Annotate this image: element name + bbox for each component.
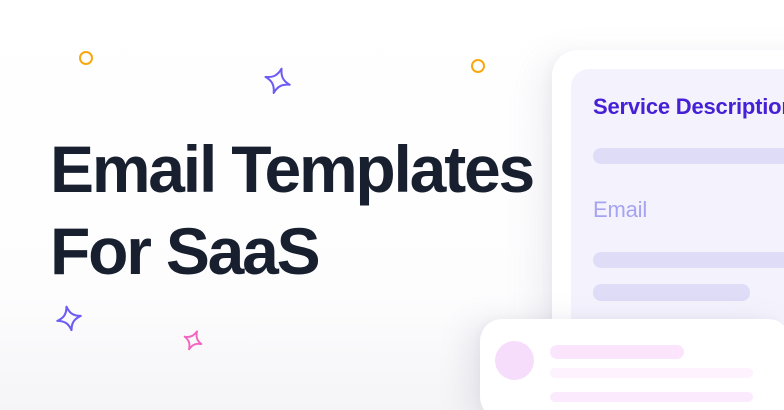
hero-banner: Email Templates For SaaS Service Descrip… xyxy=(0,0,784,410)
sparkle-pink-icon xyxy=(180,328,206,354)
service-description-heading: Service Description xyxy=(593,94,784,120)
email-field-label: Email xyxy=(593,197,647,223)
service-description-value-placeholder xyxy=(593,148,784,164)
page-title: Email Templates For SaaS xyxy=(50,128,533,292)
ring-top-left-icon xyxy=(79,51,93,65)
contact-line-one-placeholder xyxy=(550,368,753,378)
ring-top-right-icon xyxy=(471,59,485,73)
avatar xyxy=(495,341,534,380)
contact-line-two-placeholder xyxy=(550,392,753,402)
email-secondary-placeholder xyxy=(593,284,750,301)
sparkle-top-icon xyxy=(259,65,293,99)
email-value-placeholder xyxy=(593,252,784,268)
sparkle-bottom-left-icon xyxy=(53,304,85,336)
contact-card xyxy=(480,319,784,410)
contact-name-placeholder xyxy=(550,345,684,359)
